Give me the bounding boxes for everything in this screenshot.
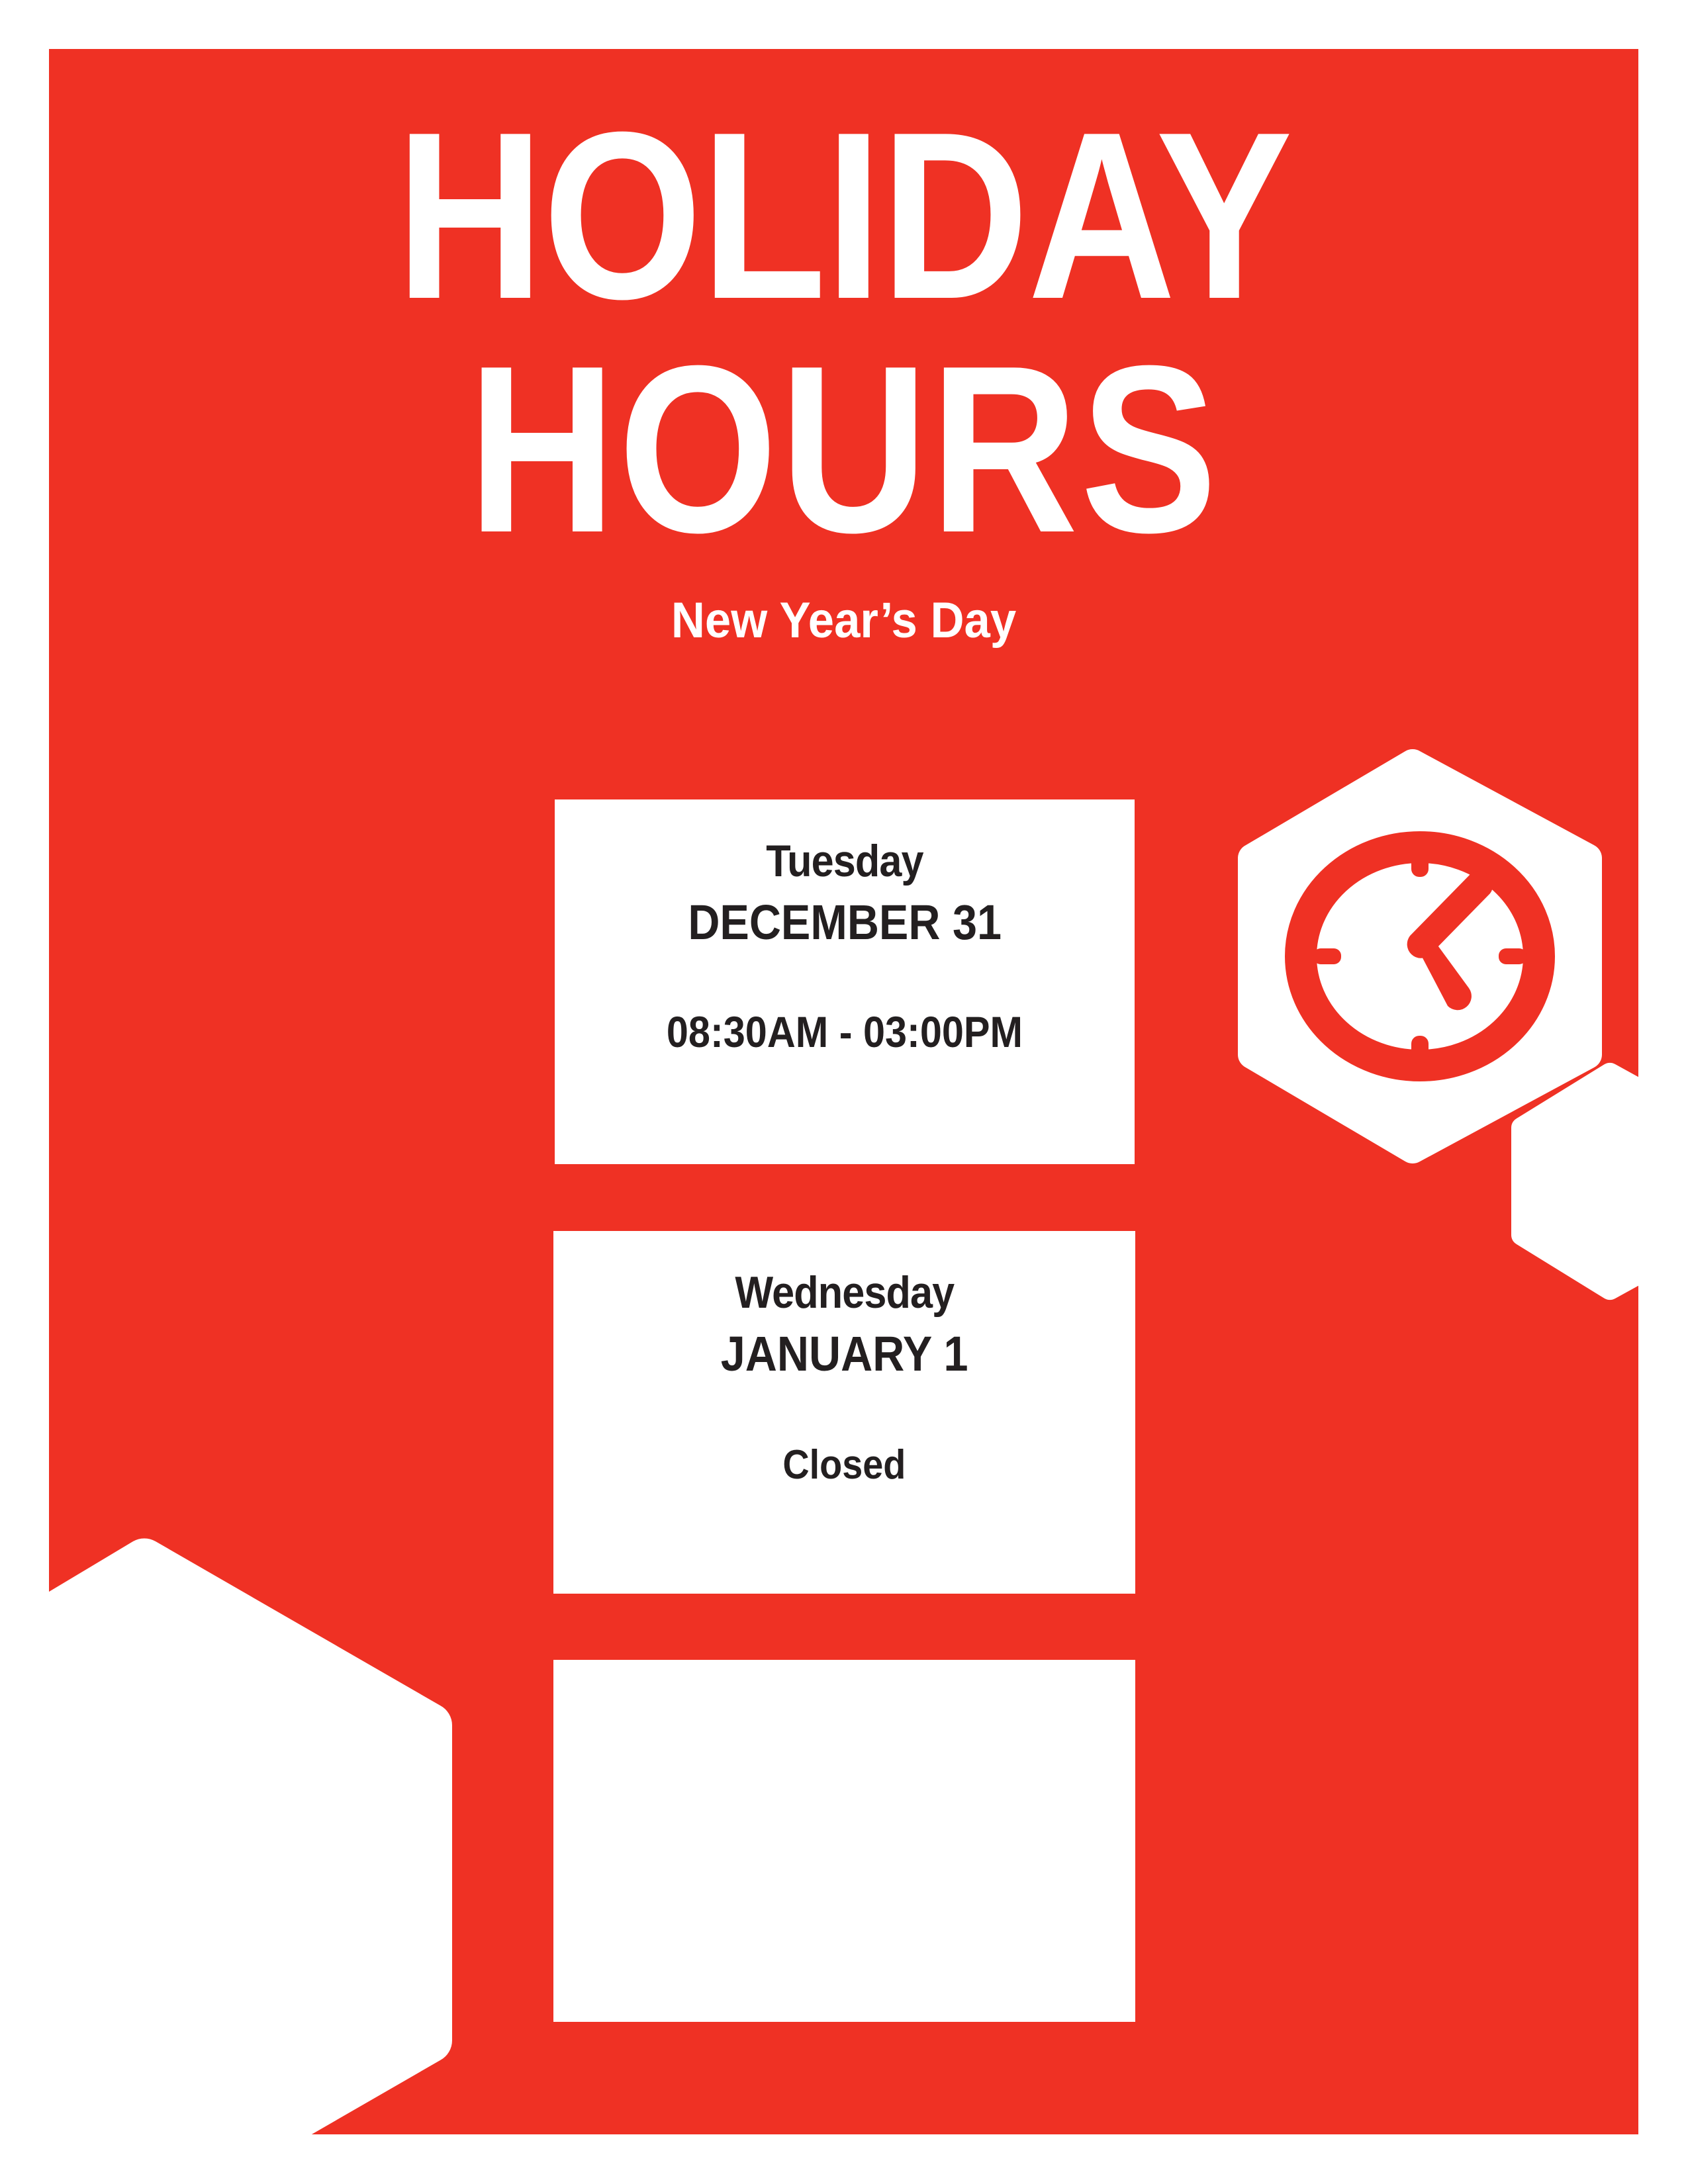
hours-card-date: JANUARY 1: [721, 1328, 968, 1380]
small-hexagon-shape: [1506, 1059, 1688, 1304]
hours-card: Wednesday JANUARY 1 Closed: [553, 1231, 1135, 1594]
page-subtitle: New Year’s Day: [105, 596, 1583, 646]
hours-card: Tuesday DECEMBER 31 08:30AM - 03:00PM: [555, 799, 1135, 1164]
corner-hexagon-shape: [0, 1532, 467, 2184]
hours-card-day: Tuesday: [766, 838, 923, 885]
hours-card-empty: [553, 1660, 1135, 2022]
hours-card-date: DECEMBER 31: [688, 897, 1002, 948]
hours-card-time: 08:30AM - 03:00PM: [667, 1009, 1023, 1055]
hours-card-day: Wednesday: [735, 1269, 954, 1316]
hours-card-time: Closed: [782, 1443, 906, 1486]
page-title-line-1: HOLIDAY: [160, 99, 1527, 333]
poster-heading: HOLIDAY HOURS New Year’s Day: [49, 99, 1638, 646]
poster-canvas: HOLIDAY HOURS New Year’s Day Tuesday DEC…: [0, 0, 1688, 2184]
page-title-line-2: HOURS: [160, 333, 1527, 567]
